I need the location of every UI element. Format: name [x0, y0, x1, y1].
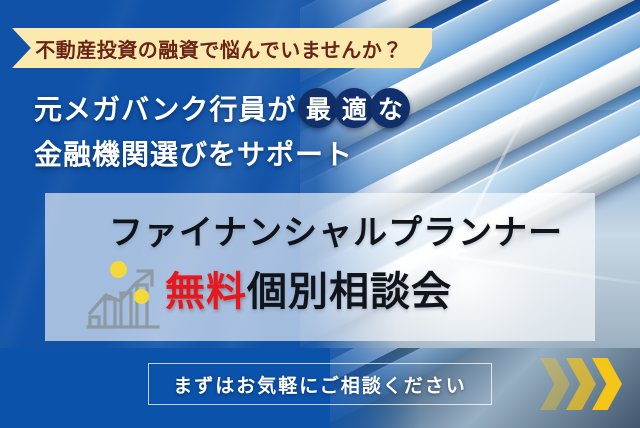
emphasis-pill-char: な	[370, 88, 410, 128]
emphasis-char-text: 最	[306, 90, 331, 126]
free-label: 無料	[165, 270, 247, 314]
cta-button[interactable]: まずはお気軽にご相談ください	[148, 363, 492, 405]
cta-label: まずはお気軽にご相談ください	[173, 371, 467, 398]
headline-block: 元メガバンク行員が 最 適 な 金融機関選びをサポート	[34, 86, 454, 174]
headline-subtext: 金融機関選びをサポート	[34, 133, 353, 173]
emphasis-char-text: 適	[342, 90, 367, 126]
chevron-right-icon	[566, 358, 596, 410]
headline-prefix: 元メガバンク行員が	[34, 88, 296, 128]
accent-dot	[110, 261, 127, 278]
chevron-right-icon	[592, 358, 622, 410]
emphasis-pill-char: 最	[298, 88, 338, 128]
growth-chart-icon	[80, 255, 165, 333]
emphasis-char-text: な	[378, 90, 403, 126]
headline-line-2: 金融機関選びをサポート	[34, 132, 454, 174]
ribbon-banner: 不動産投資の融資で悩んでいませんか？	[12, 28, 432, 68]
panel-subtitle: 無料個別相談会	[165, 259, 452, 317]
consultation-label: 個別相談会	[247, 270, 452, 314]
advertisement-banner: 不動産投資の融資で悩んでいませんか？ 元メガバンク行員が 最 適 な 金融機関選…	[0, 0, 640, 428]
offer-panel: ファイナンシャルプランナー 無料個別相談	[45, 193, 595, 341]
ribbon-text: 不動産投資の融資で悩んでいませんか？	[15, 34, 428, 63]
emphasis-pill-char: 適	[334, 88, 374, 128]
headline-emphasis-pills: 最 適 な	[302, 88, 410, 128]
chevron-right-icon	[540, 358, 570, 410]
chevron-right-arrows	[540, 358, 636, 410]
accent-dot	[134, 289, 149, 304]
panel-title: ファイナンシャルプランナー	[81, 205, 591, 254]
headline-line-1: 元メガバンク行員が 最 適 な	[34, 86, 454, 130]
